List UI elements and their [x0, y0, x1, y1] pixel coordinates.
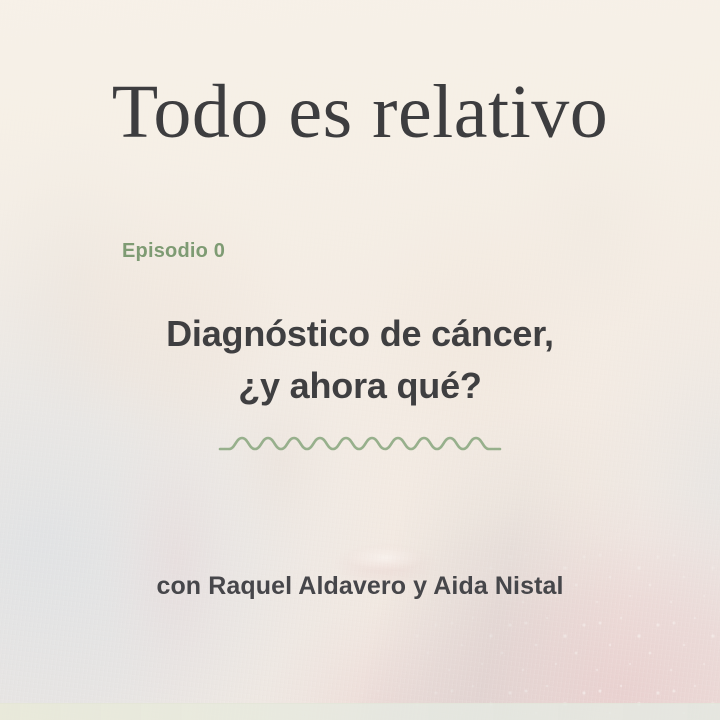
hosts-credit: con Raquel Aldavero y Aida Nistal: [0, 572, 720, 601]
podcast-cover-art: Todo es relativo Episodio 0 Diagnóstico …: [0, 0, 720, 720]
episode-title-line-1: Diagnóstico de cáncer,: [0, 308, 720, 360]
wavy-line-divider-icon: [218, 432, 502, 458]
episode-title: Diagnóstico de cáncer, ¿y ahora qué?: [0, 308, 720, 412]
show-title: Todo es relativo: [0, 74, 720, 150]
cover-content: Todo es relativo Episodio 0 Diagnóstico …: [0, 0, 720, 720]
episode-number-label: Episodio 0: [122, 240, 225, 263]
episode-title-line-2: ¿y ahora qué?: [0, 360, 720, 412]
